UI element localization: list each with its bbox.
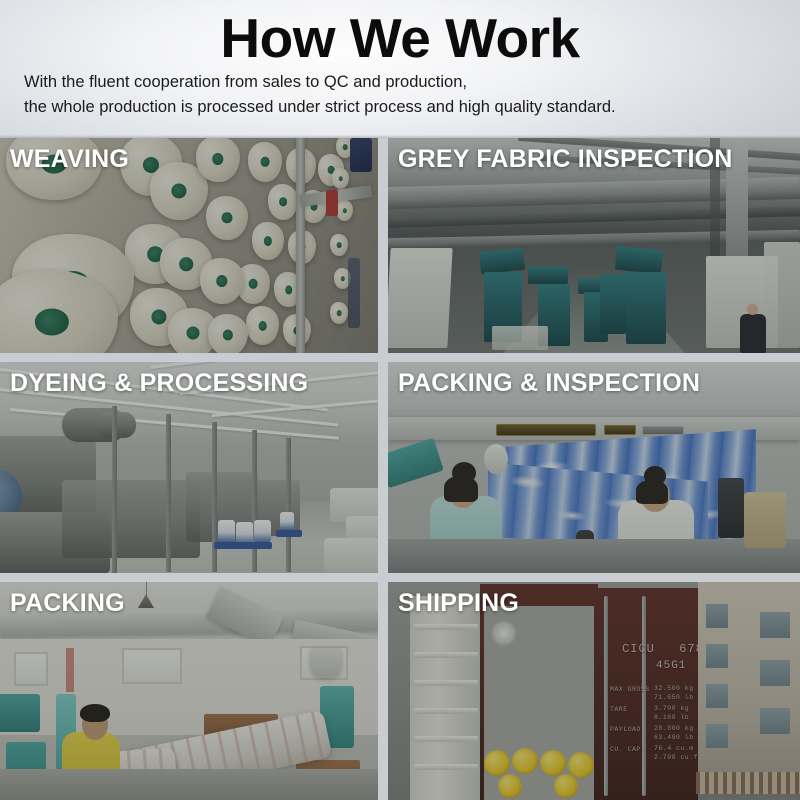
step-tile-packing-inspection[interactable]: PACKING & INSPECTION [388,362,800,573]
plate-row-3-label: CU. CAP. [610,746,645,753]
page-title: How We Work [0,6,800,70]
plate-row-0-kg: 32.500 kg [654,685,694,692]
page-header: How We Work With the fluent cooperation … [0,0,800,138]
plate-row-0-lb: 71.650 lb [654,694,694,701]
container-owner-code: CICU [622,642,655,656]
plate-row-3-metric: 76.4 cu.m [654,745,694,752]
step-label-weaving: WEAVING [10,144,129,174]
plate-row-2-lb: 63.490 lb [654,734,694,741]
how-we-work-page: How We Work With the fluent cooperation … [0,0,800,800]
step-label-grey-fabric-inspection: GREY FABRIC INSPECTION [398,144,733,174]
step-tile-packing[interactable]: PACKING [0,582,378,800]
plate-row-2-kg: 28.800 kg [654,725,694,732]
plate-row-3-imperial: 2.700 cu.ft [654,754,702,761]
plate-row-0-label: MAX GROSS [610,686,650,693]
plate-row-1-lb: 8.160 lb [654,714,689,721]
container-size-type: 45G1 [656,660,686,672]
plate-row-1-label: TARE [610,706,628,713]
subtitle-line-1: With the fluent cooperation from sales t… [24,70,616,95]
plate-row-1-kg: 3.700 kg [654,705,689,712]
step-tile-weaving[interactable]: WEAVING [0,138,378,353]
step-label-dyeing-processing: DYEING & PROCESSING [10,368,308,398]
step-tile-dyeing-processing[interactable]: DYEING & PROCESSING [0,362,378,573]
step-label-packing: PACKING [10,588,125,618]
step-label-shipping: SHIPPING [398,588,519,618]
page-subtitle: With the fluent cooperation from sales t… [24,70,616,120]
step-tile-shipping[interactable]: CICU 678802 5 45G1 MAX GROSS 32.500 kg 7… [388,582,800,800]
process-step-grid: WEAVING [0,138,800,800]
plate-row-2-label: PAYLOAD [610,726,641,733]
subtitle-line-2: the whole production is processed under … [24,95,616,120]
step-label-packing-inspection: PACKING & INSPECTION [398,368,700,398]
step-tile-grey-fabric-inspection[interactable]: GREY FABRIC INSPECTION [388,138,800,353]
